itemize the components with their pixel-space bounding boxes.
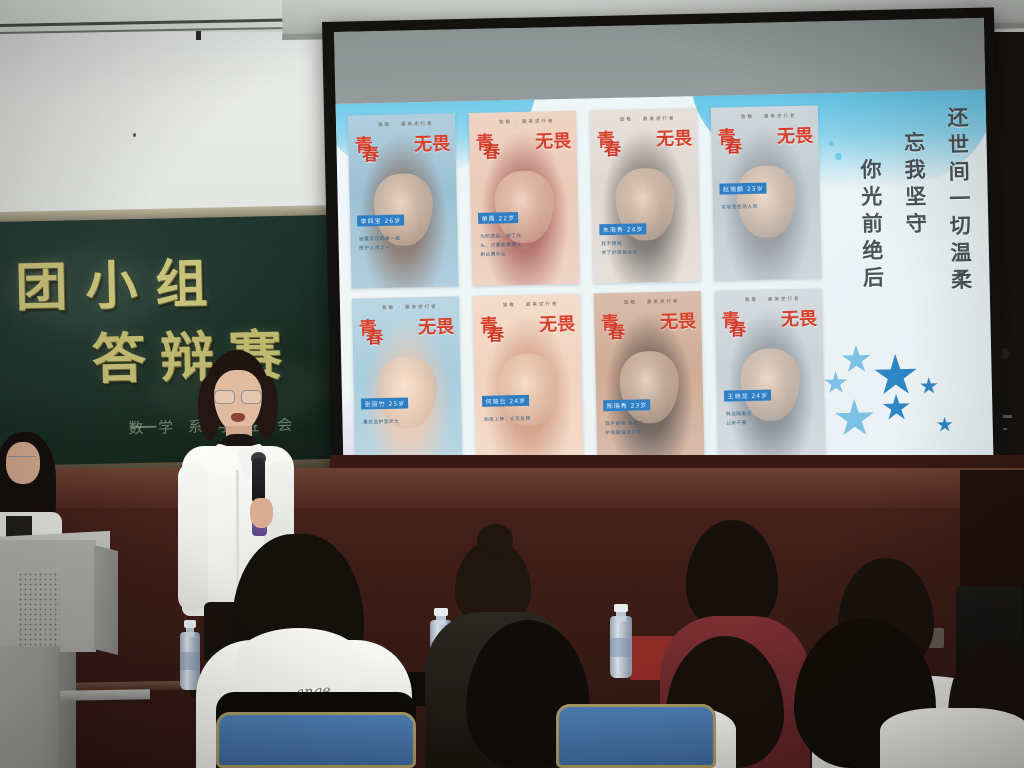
cover-title-right: 无畏 [418, 312, 455, 339]
cover-title: 青春无畏 [359, 312, 455, 340]
cover-title-char2: 春 [483, 137, 501, 162]
magazine-cover: 致敬 · 最美逆行者青春无畏李四宝 26岁驰援武汉的第一批 医护人员之一 [348, 113, 459, 288]
chair-back [556, 704, 716, 768]
arm-left [178, 462, 208, 612]
cable-clip [196, 31, 201, 40]
bottle-cap [434, 608, 447, 616]
cover-title-right: 无畏 [777, 121, 814, 148]
cover-subject-name: 单霞 22岁 [478, 212, 518, 224]
star-icon [824, 371, 849, 396]
cover-title-left: 青春 [597, 125, 616, 151]
cover-title-right: 无畏 [660, 307, 697, 334]
cover-body-text: 驰援武汉的第一批 医护人员之一 [359, 235, 449, 254]
cover-title-char2: 春 [604, 134, 622, 159]
star-icon [834, 398, 875, 439]
cover-title: 青春无畏 [601, 307, 697, 335]
audience-torso-front [880, 708, 1024, 768]
chair-back [216, 712, 416, 768]
cover-body-text: 我不想哭 哭了护目镜会花 [601, 240, 691, 259]
chair-frame [556, 704, 716, 768]
cover-title: 青春无畏 [597, 124, 693, 152]
star-icon [841, 344, 872, 375]
chair-frame [216, 712, 416, 768]
podium-side-panel [94, 545, 118, 655]
hand [250, 498, 273, 528]
water-bottle [180, 620, 200, 690]
presentation-slide: 致敬 · 最美逆行者青春无畏李四宝 26岁驰援武汉的第一批 医护人员之一致敬 ·… [336, 90, 994, 482]
cover-title-right: 无畏 [535, 126, 572, 153]
cover-title-right: 无畏 [656, 124, 693, 151]
cover-title-left: 青春 [721, 306, 740, 332]
podium-shelf [60, 689, 150, 701]
cover-title-right: 无畏 [781, 304, 818, 331]
cover-title-char2: 春 [608, 317, 626, 342]
podium-base-side [58, 652, 76, 768]
cover-subject-name: 赵瑞麟 23岁 [720, 183, 767, 195]
star-icon [937, 417, 953, 433]
cover-title-left: 青春 [359, 314, 378, 340]
star-icon [873, 353, 918, 398]
cover-title: 青春无畏 [480, 309, 576, 337]
magazine-cover: 致敬 · 最美逆行者青春无畏赵瑞麟 23岁实验室检测人员 [711, 105, 822, 280]
cover-title-left: 青春 [476, 128, 495, 154]
magazine-cover: 致敬 · 最美逆行者青春无畏单霞 22岁为防感染，剃了光 头，只要能救病人 剃头… [469, 111, 580, 286]
cover-title-right: 无畏 [539, 309, 576, 336]
cover-title-left: 青春 [355, 131, 374, 157]
cover-title-char2: 春 [729, 315, 747, 340]
magazine-cover: 致敬 · 最美逆行者青春无畏张丽竹 25岁重症监护室护士 [352, 296, 463, 471]
cover-title: 青春无畏 [717, 121, 813, 149]
cover-title-char2: 春 [725, 132, 743, 157]
cover-body-text: 转运隔离点 公安干警 [726, 410, 816, 429]
wood-wall-highlight [0, 468, 1024, 508]
cover-title-char2: 春 [366, 323, 384, 348]
glasses [8, 456, 36, 465]
cover-subject-name: 王晓龙 24岁 [724, 390, 771, 402]
hoodie-hood [236, 628, 362, 692]
magazine-cover: 致敬 · 最美逆行者青春无畏朱海秀 24岁我不想哭 哭了护目镜会花 [590, 108, 701, 283]
hair-bun [477, 524, 513, 554]
slide-dot [829, 141, 834, 146]
cover-title-char2: 春 [362, 140, 380, 165]
cover-title: 青春无畏 [476, 126, 572, 154]
cover-title: 青春无畏 [355, 129, 451, 157]
blackboard-title-line1: 团小组 [14, 239, 326, 320]
bottle-cap [184, 620, 196, 628]
star-decoration [823, 330, 976, 453]
star-icon [882, 394, 911, 423]
cover-title-char2: 春 [487, 320, 505, 345]
slide-dot [835, 153, 842, 160]
cover-title-right: 无畏 [414, 129, 451, 156]
projection-screen-surface: 致敬 · 最美逆行者青春无畏李四宝 26岁驰援武汉的第一批 医护人员之一致敬 ·… [334, 18, 995, 524]
mouth [231, 413, 245, 422]
cover-subject-name: 陈瑞秀 23岁 [604, 399, 651, 411]
cover-subject-name: 何路云 24岁 [482, 395, 529, 407]
water-bottle [610, 604, 632, 678]
cover-subject-name: 李四宝 26岁 [358, 215, 405, 227]
cover-title-left: 青春 [601, 308, 620, 334]
star-icon [920, 377, 938, 395]
bottle-label [180, 652, 200, 670]
cover-title-left: 青春 [717, 123, 736, 149]
podium-base [0, 646, 60, 768]
cover-subject-name: 朱海秀 24岁 [600, 223, 647, 235]
glasses-icon [214, 390, 262, 402]
magazine-cover: 致敬 · 最美逆行者青春无畏陈瑞秀 23岁我不能哭 哭花了 护目镜没法工作 [594, 291, 705, 466]
bottle-cap [614, 604, 627, 612]
bottle-label [610, 638, 632, 657]
magazine-cover-grid: 致敬 · 最美逆行者青春无畏李四宝 26岁驰援武汉的第一批 医护人员之一致敬 ·… [348, 105, 826, 471]
wall-mark [133, 133, 136, 137]
podium-speaker-grille [18, 572, 60, 654]
classroom-scene: ThreeStars 团小组 答辩赛 数 学 系 学 生 会 致敬 · 最美逆行… [0, 0, 1024, 768]
magazine-cover: 致敬 · 最美逆行者青春无畏王晓龙 24岁转运隔离点 公安干警 [715, 288, 826, 463]
cover-body-text: 我不能哭 哭花了 护目镜没法工作 [605, 419, 695, 438]
cover-title: 青春无畏 [721, 304, 817, 332]
cover-title-left: 青春 [480, 311, 499, 337]
magazine-cover: 致敬 · 最美逆行者青春无畏何路云 24岁剃发上阵，义无反顾 [473, 294, 584, 469]
cover-subject-name: 张丽竹 25岁 [361, 398, 408, 410]
cover-body-text: 为防感染，剃了光 头，只要能救病人 剃头算什么 [480, 232, 570, 260]
